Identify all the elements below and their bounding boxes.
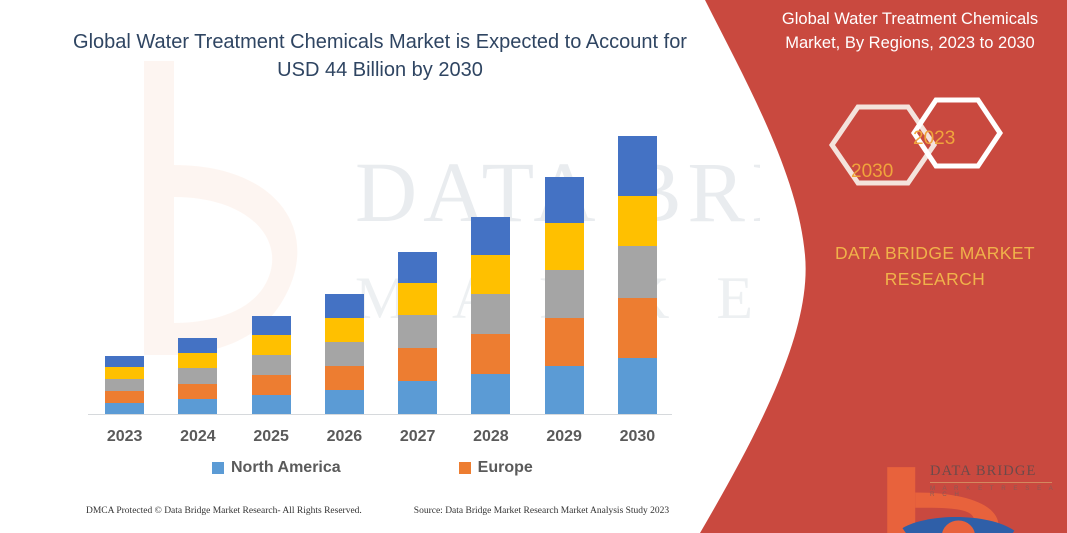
bar-segment — [325, 294, 364, 318]
bar-segment — [545, 270, 584, 318]
bar-group — [88, 120, 674, 415]
x-axis-tick-2024: 2024 — [161, 428, 234, 454]
bar-segment — [471, 294, 510, 334]
bar-segment — [252, 375, 291, 395]
bar-column[interactable] — [88, 120, 161, 415]
bar-segment — [252, 335, 291, 355]
legend-swatch-icon — [212, 462, 224, 474]
stacked-bar-2025[interactable] — [252, 316, 291, 415]
bar-column[interactable] — [235, 120, 308, 415]
legend-item-europe[interactable]: Europe — [459, 459, 533, 477]
page-title: Global Water Treatment Chemicals Market … — [60, 28, 700, 85]
bar-segment — [178, 399, 217, 415]
bar-segment — [618, 196, 657, 246]
x-axis-tick-2028: 2028 — [454, 428, 527, 454]
bar-segment — [471, 334, 510, 374]
logo-subtitle: M A R K E T R E S E A R C H — [930, 486, 1060, 498]
bar-segment — [105, 391, 144, 403]
bar-segment — [545, 318, 584, 366]
legend-swatch-icon — [459, 462, 471, 474]
stacked-bar-2026[interactable] — [325, 294, 364, 415]
bar-segment — [398, 315, 437, 348]
bar-segment — [105, 379, 144, 391]
legend-label: Europe — [478, 459, 533, 477]
legend-label: North America — [231, 459, 341, 477]
bar-column[interactable] — [454, 120, 527, 415]
hex-badge-2030-label: 2030 — [851, 161, 893, 183]
bar-segment — [398, 381, 437, 415]
chart-legend: North America Europe — [88, 456, 674, 480]
bar-segment — [398, 252, 437, 283]
bar-column[interactable] — [308, 120, 381, 415]
logo-name: DATA BRIDGE — [930, 464, 1060, 479]
bar-segment — [252, 395, 291, 415]
x-axis-line — [88, 414, 672, 415]
bar-segment — [105, 356, 144, 367]
bar-segment — [325, 390, 364, 415]
stacked-bar-2023[interactable] — [105, 356, 144, 415]
plot-area — [88, 120, 674, 415]
bar-segment — [325, 342, 364, 366]
stacked-bar-2028[interactable] — [471, 217, 510, 415]
bar-segment — [398, 283, 437, 315]
x-axis-tick-2026: 2026 — [308, 428, 381, 454]
bar-segment — [471, 255, 510, 294]
bar-segment — [325, 366, 364, 390]
stacked-bar-2030[interactable] — [618, 136, 657, 415]
dmca-notice: DMCA Protected © Data Bridge Market Rese… — [86, 506, 362, 524]
legend-item-north-america[interactable]: North America — [212, 459, 341, 477]
logo-divider — [930, 482, 1052, 484]
footer: DMCA Protected © Data Bridge Market Rese… — [86, 506, 686, 524]
bar-segment — [252, 316, 291, 335]
bar-segment — [178, 353, 217, 368]
chart-panel: DATA BRIDGE M A R K E T R E S E A R C H … — [0, 0, 760, 533]
x-axis-tick-2023: 2023 — [88, 428, 161, 454]
x-axis-labels: 20232024202520262027202820292030 — [88, 428, 674, 454]
bar-column[interactable] — [528, 120, 601, 415]
bar-column[interactable] — [381, 120, 454, 415]
x-axis-tick-2029: 2029 — [528, 428, 601, 454]
bar-segment — [398, 348, 437, 381]
stacked-bar-2029[interactable] — [545, 177, 584, 415]
bar-segment — [545, 366, 584, 415]
bar-segment — [178, 368, 217, 384]
bar-column[interactable] — [161, 120, 234, 415]
x-axis-tick-2030: 2030 — [601, 428, 674, 454]
stacked-bar-2024[interactable] — [178, 338, 217, 415]
brand-panel-title: Global Water Treatment Chemicals Market,… — [760, 8, 1060, 56]
brand-name: DATA BRIDGE MARKET RESEARCH — [790, 240, 1067, 293]
bar-segment — [618, 358, 657, 415]
hex-badge-2023-label: 2023 — [913, 128, 955, 150]
bar-segment — [105, 367, 144, 379]
bar-segment — [471, 217, 510, 255]
bar-segment — [618, 246, 657, 298]
bar-segment — [178, 338, 217, 353]
logo-wordmark: DATA BRIDGE M A R K E T R E S E A R C H — [930, 464, 1060, 498]
stacked-bar-2027[interactable] — [398, 252, 437, 415]
bar-segment — [325, 318, 364, 342]
bar-segment — [252, 355, 291, 375]
source-note: Source: Data Bridge Market Research Mark… — [414, 506, 669, 524]
hex-badge-group — [810, 95, 1030, 225]
bar-segment — [178, 384, 217, 399]
bar-segment — [545, 177, 584, 223]
infographic-canvas: DATA BRIDGE M A R K E T R E S E A R C H … — [0, 0, 1067, 533]
x-axis-tick-2025: 2025 — [235, 428, 308, 454]
bar-segment — [471, 374, 510, 415]
x-axis-tick-2027: 2027 — [381, 428, 454, 454]
bar-segment — [545, 223, 584, 270]
bar-segment — [618, 298, 657, 358]
bar-segment — [618, 136, 657, 196]
bar-column[interactable] — [601, 120, 674, 415]
